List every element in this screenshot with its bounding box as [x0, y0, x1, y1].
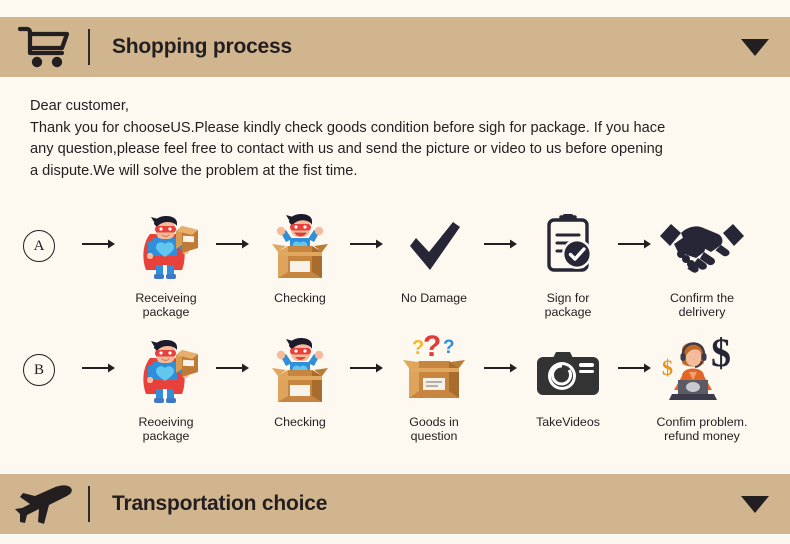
- arrow-icon: [614, 332, 656, 374]
- flow-letter-circle-b: B: [23, 354, 55, 386]
- flow-step-b-4: TakeVideos: [522, 332, 614, 429]
- arrow-icon: [346, 332, 388, 374]
- arrow-icon: [212, 208, 254, 250]
- flow-step-b-1: Reoeiving package: [120, 332, 212, 443]
- flow-letter-circle-a: A: [23, 230, 55, 262]
- flow-step-label: Goods in question: [388, 415, 480, 443]
- chevron-down-icon-shopping[interactable]: [720, 39, 790, 56]
- checkmark-icon: [398, 208, 470, 282]
- intro-paragraph: Dear customer, Thank you for chooseUS.Pl…: [30, 96, 760, 182]
- flow-step-a-4: Sign for package: [522, 208, 614, 319]
- svg-text:$: $: [662, 355, 673, 380]
- intro-line-2: Thank you for chooseUS.Please kindly che…: [30, 118, 760, 140]
- arrow-icon: [614, 208, 656, 250]
- box-with-question-marks-icon: ? ? ?: [395, 332, 473, 406]
- section-title-transportation: Transportation choice: [112, 492, 327, 516]
- intro-line-1: Dear customer,: [30, 96, 760, 118]
- flow-step-label: Confim problem. refund money: [657, 415, 748, 443]
- arrow-icon: [78, 332, 120, 374]
- section-title-shopping: Shopping process: [112, 35, 292, 59]
- svg-text:$: $: [711, 332, 731, 375]
- arrow-icon: [480, 332, 522, 374]
- section-header-transportation-choice[interactable]: Transportation choice: [0, 474, 790, 534]
- svg-text:?: ?: [423, 332, 441, 363]
- handshake-icon: [656, 208, 748, 282]
- arrow-icon: [346, 208, 388, 250]
- flow-step-b-3: ? ? ? Goods in question: [388, 332, 480, 443]
- camera-icon: [529, 332, 607, 406]
- superhero-holding-package-icon: [130, 208, 202, 282]
- step-label-text: Confirm the delrivery: [670, 291, 734, 319]
- airplane-icon: [0, 474, 88, 534]
- flow-step-label: Reoeiving package: [120, 415, 212, 443]
- step-label-text: Checking: [274, 291, 326, 305]
- intro-line-4: a dispute.We will solve the problem at t…: [30, 161, 760, 183]
- flow-step-label: No Damage: [401, 291, 467, 305]
- flow-step-label: Checking: [274, 415, 326, 429]
- flow-step-b-5: $ $: [656, 332, 748, 443]
- person-in-open-box-icon: [264, 208, 336, 282]
- superhero-holding-package-icon: [130, 332, 202, 406]
- flow-label-a: A: [0, 208, 78, 262]
- flow-step-a-2: Checking: [254, 208, 346, 305]
- flow-step-a-5: Confirm the delrivery: [656, 208, 748, 319]
- arrow-icon: [480, 208, 522, 250]
- arrow-icon: [212, 332, 254, 374]
- step-label-text: Reoeiving package: [138, 415, 193, 443]
- header-divider: [88, 29, 90, 65]
- shopping-cart-icon: [0, 17, 88, 77]
- intro-line-3: any question,please feel free to contact…: [30, 139, 760, 161]
- promo-banner-page: Shopping process Dear customer, Thank yo…: [0, 0, 790, 544]
- flow-step-b-2: Checking: [254, 332, 346, 429]
- chevron-down-icon-transportation[interactable]: [720, 496, 790, 513]
- flow-row-b: B: [0, 332, 790, 443]
- step-label-text: Sign for package: [545, 291, 592, 319]
- step-label-text: No Damage: [401, 291, 467, 305]
- support-agent-refund-icon: $ $: [656, 332, 748, 406]
- flow-row-a: A: [0, 208, 790, 319]
- step-label-text: TakeVideos: [536, 415, 600, 429]
- header-divider: [88, 486, 90, 522]
- step-label-text: Receiveing package: [135, 291, 196, 319]
- svg-text:?: ?: [443, 337, 455, 358]
- flow-step-a-3: No Damage: [388, 208, 480, 305]
- flow-step-label: Checking: [274, 291, 326, 305]
- flow-step-label: Receiveing package: [120, 291, 212, 319]
- step-label-text: Checking: [274, 415, 326, 429]
- person-in-open-box-icon: [264, 332, 336, 406]
- flow-step-label: TakeVideos: [536, 415, 600, 429]
- step-label-text: Confim problem.: [657, 415, 748, 429]
- step-label-text: Goods in question: [409, 415, 459, 443]
- flow-label-b: B: [0, 332, 78, 386]
- flow-step-label: Sign for package: [522, 291, 614, 319]
- clipboard-check-icon: [532, 208, 604, 282]
- flow-step-a-1: Receiveing package: [120, 208, 212, 319]
- step-label-text-line2: refund money: [657, 429, 748, 443]
- section-header-shopping-process[interactable]: Shopping process: [0, 17, 790, 77]
- flow-step-label: Confirm the delrivery: [656, 291, 748, 319]
- arrow-icon: [78, 208, 120, 250]
